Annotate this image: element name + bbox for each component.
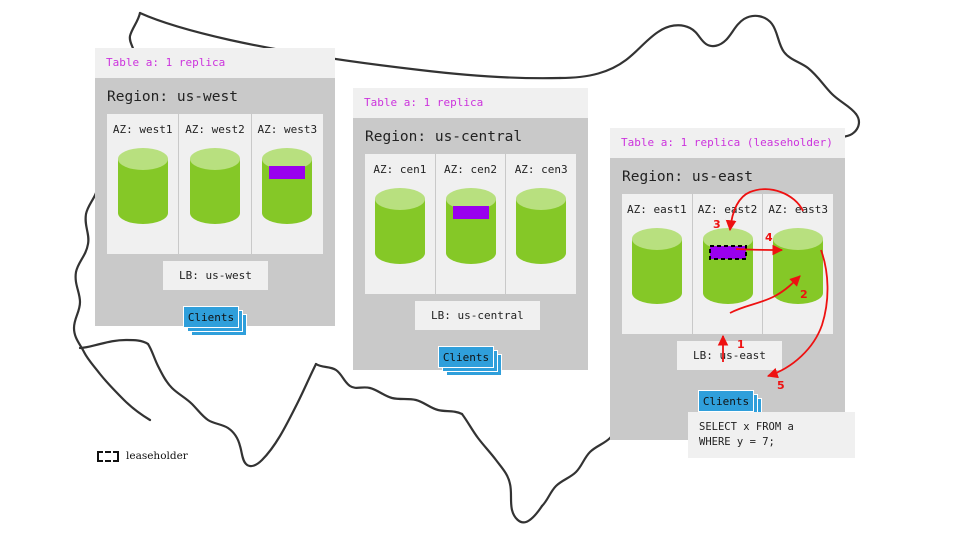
node-cylinder-west2[interactable]: [188, 146, 242, 230]
az-cell-cen2[interactable]: AZ: cen2: [436, 154, 507, 294]
arrow-number-5: 5: [777, 379, 785, 392]
az-label-east2: AZ: east2: [698, 194, 758, 226]
region-title-us-west: Region: us-west: [95, 78, 335, 114]
replica-banner-us-west: Table a: 1 replica: [95, 48, 335, 78]
az-label-west2: AZ: west2: [185, 114, 245, 146]
az-cell-east3[interactable]: AZ: east3: [763, 194, 833, 334]
az-label-cen2: AZ: cen2: [444, 154, 497, 186]
clients-us-central[interactable]: Clients: [438, 346, 502, 376]
replica-block-icon: [269, 166, 305, 179]
cylinder-icon: [373, 186, 427, 266]
load-balancer-us-central[interactable]: LB: us-central: [415, 301, 540, 330]
load-balancer-us-west[interactable]: LB: us-west: [163, 261, 268, 290]
az-label-west1: AZ: west1: [113, 114, 173, 146]
replica-banner-us-central: Table a: 1 replica: [353, 88, 588, 118]
sql-query-box: SELECT x FROM a WHERE y = 7;: [688, 412, 855, 458]
arrow-number-1: 1: [737, 338, 745, 351]
az-cell-west1[interactable]: AZ: west1: [107, 114, 179, 254]
node-cylinder-east2[interactable]: [701, 226, 755, 310]
node-cylinder-east3[interactable]: [771, 226, 825, 310]
cylinder-icon: [444, 186, 498, 266]
node-cylinder-cen1[interactable]: [373, 186, 427, 270]
az-cell-west2[interactable]: AZ: west2: [179, 114, 251, 254]
az-row-us-central: AZ: cen1 AZ: cen2: [365, 154, 576, 294]
az-label-cen1: AZ: cen1: [373, 154, 426, 186]
az-label-west3: AZ: west3: [258, 114, 318, 146]
leaseholder-replica-block-icon: [710, 246, 746, 259]
clients-label-us-central[interactable]: Clients: [438, 346, 494, 368]
cylinder-icon: [514, 186, 568, 266]
cylinder-icon: [630, 226, 684, 306]
legend-leaseholder: leaseholder: [97, 450, 188, 462]
clients-us-west[interactable]: Clients: [183, 306, 247, 336]
node-cylinder-cen3[interactable]: [514, 186, 568, 270]
cylinder-icon: [188, 146, 242, 226]
az-cell-east2[interactable]: AZ: east2: [693, 194, 764, 334]
region-title-us-central: Region: us-central: [353, 118, 588, 154]
az-cell-cen1[interactable]: AZ: cen1: [365, 154, 436, 294]
az-row-us-west: AZ: west1 AZ: west2: [107, 114, 323, 254]
region-title-us-east: Region: us-east: [610, 158, 845, 194]
region-panel-us-east: Table a: 1 replica (leaseholder) Region:…: [610, 128, 845, 440]
cylinder-icon: [260, 146, 314, 226]
cylinder-icon: [116, 146, 170, 226]
node-cylinder-cen2[interactable]: [444, 186, 498, 270]
legend-label: leaseholder: [126, 450, 188, 462]
az-cell-west3[interactable]: AZ: west3: [252, 114, 323, 254]
cylinder-icon: [771, 226, 825, 306]
clients-label-us-east[interactable]: Clients: [698, 390, 754, 412]
node-cylinder-east1[interactable]: [630, 226, 684, 310]
dashed-rect-icon: [97, 451, 119, 462]
az-cell-cen3[interactable]: AZ: cen3: [506, 154, 576, 294]
az-row-us-east: AZ: east1 AZ: east2: [622, 194, 833, 334]
node-cylinder-west1[interactable]: [116, 146, 170, 230]
replica-banner-us-east: Table a: 1 replica (leaseholder): [610, 128, 845, 158]
region-panel-us-west: Table a: 1 replica Region: us-west AZ: w…: [95, 48, 335, 326]
az-label-east1: AZ: east1: [627, 194, 687, 226]
node-cylinder-west3[interactable]: [260, 146, 314, 230]
diagram-canvas: Table a: 1 replica Region: us-west AZ: w…: [0, 0, 960, 540]
clients-label-us-west[interactable]: Clients: [183, 306, 239, 328]
cylinder-icon: [701, 226, 755, 306]
replica-block-icon: [453, 206, 489, 219]
az-label-cen3: AZ: cen3: [515, 154, 568, 186]
arrow-number-2: 2: [800, 288, 808, 301]
arrow-number-4: 4: [765, 231, 773, 244]
region-panel-us-central: Table a: 1 replica Region: us-central AZ…: [353, 88, 588, 370]
az-cell-east1[interactable]: AZ: east1: [622, 194, 693, 334]
load-balancer-us-east[interactable]: LB: us-east: [677, 341, 782, 370]
az-label-east3: AZ: east3: [768, 194, 828, 226]
arrow-number-3: 3: [713, 218, 721, 231]
